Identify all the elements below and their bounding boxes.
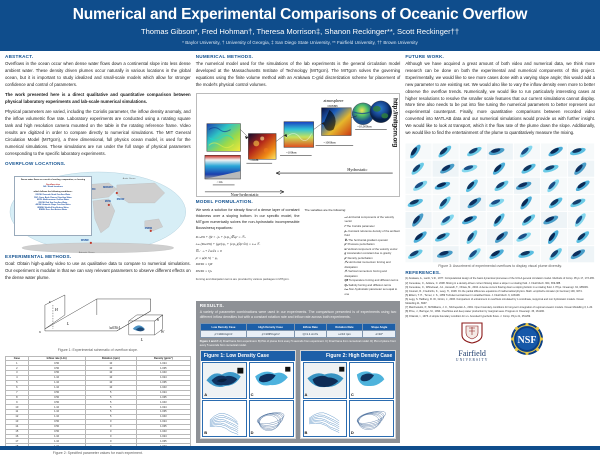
nsf-seal-icon: NSF — [510, 322, 544, 356]
results-p1: A variety of parameter combinations were… — [200, 310, 397, 321]
svg-text:L: L — [66, 321, 70, 326]
thumbnail-grid-svg — [405, 143, 595, 263]
results-caption-text: A) Final frame from experiment. B) Plot … — [200, 340, 396, 347]
fairfield-name: Fairfield — [456, 350, 489, 358]
svg-text:Antarctic Ocean: Antarctic Ocean — [78, 251, 95, 254]
svg-text:RSBW: RSBW — [145, 227, 153, 230]
variable-item: ℱₕ Horizontal momentum forcing and dissi… — [345, 260, 401, 269]
reference-item: [1] Arakawa, A., Lamb, V.R., 1977. Compu… — [405, 277, 595, 281]
model-formulation-body: We seek a solution for steady flow of a … — [196, 208, 401, 299]
variable-definition: Vertical component of the velocity vecto… — [347, 247, 397, 251]
equation-4: ρ' = ρ(θ, S) − ρ₀ — [196, 255, 300, 262]
experimental-methods-p1: Goal: Obtain high-quality video to use a… — [5, 261, 191, 282]
plume-model-c — [250, 363, 293, 397]
map-legend-blue: Sill / Strait locations — [17, 186, 89, 189]
results-col-inflow-rate: Inflow Rate — [294, 324, 326, 331]
results-col-rotation-rate: Rotation Rate — [326, 324, 363, 331]
reference-list: [1] Arakawa, A., Lamb, V.R., 1977. Compu… — [405, 277, 595, 318]
results-table-header-row: Low Density Case High Density Case Inflo… — [200, 324, 396, 331]
variable-definition: Density perturbation — [348, 256, 373, 260]
front-contours-b2 — [304, 401, 347, 435]
fairfield-crest-icon — [459, 322, 485, 344]
variables-block: The variables are the following: ᵥₕ Hori… — [305, 208, 401, 299]
panel-label: D — [351, 430, 354, 435]
results-col-low-density: Low Density Case — [200, 324, 247, 331]
figure-low-density-title: Figure 1: Low Density Case — [201, 351, 295, 361]
author-list: Thomas Gibson*, Fred Hohman†, Theresa Mo… — [10, 28, 590, 36]
equation-5: Dθ/Dt = Qθ — [196, 261, 300, 268]
results-table: Low Density Case High Density Case Inflo… — [200, 323, 397, 338]
figure-low-density-panels: A C — [201, 361, 295, 438]
variable-item: εₙₕ Non-hydrostatic parameter set equal … — [345, 287, 401, 296]
figure-low-density: Figure 1: Low Density Case — [200, 350, 296, 439]
plume-model-c2 — [350, 363, 393, 397]
equation-note: Forcing and dissipation terms are provid… — [196, 277, 300, 281]
panel-label: C — [251, 392, 254, 397]
variable-definition: Temperature forcing and diffusion terms — [349, 278, 398, 282]
svg-text:Arctic Ocean: Arctic Ocean — [122, 177, 136, 180]
model-formulation-p1: We seek a solution for steady flow of a … — [196, 208, 300, 232]
panel-experiment-front-contours: B — [202, 400, 247, 436]
panel-label: A — [204, 392, 207, 397]
results-cell-high-density: ρ'=1035 kg/m³ — [247, 331, 295, 338]
panel-label: A — [305, 392, 308, 397]
parameter-table-body: 10.50101.02420.50101.03530.50101.04341.1… — [6, 361, 191, 449]
mitgcm-scale-svg: ~10km ~100km ~1000km ~10,000km ~1m atmos… — [197, 94, 400, 197]
panel-experiment-front-contours: B — [303, 400, 348, 436]
fairfield-logo: Fairfield UNIVERSITY — [456, 322, 489, 362]
variable-definition: Constant reference density of the ambien… — [345, 229, 401, 238]
figure-high-density-panels: A C — [301, 361, 395, 438]
svg-text:z: z — [48, 299, 51, 304]
results-heading: Results. — [200, 304, 397, 309]
figure2-caption: Figure 2: Specified parameter values for… — [5, 451, 191, 455]
mitgcm-url[interactable]: http://mitgcm.org — [391, 98, 398, 147]
results-cell-rotation-rate: ω=10 rpm — [326, 331, 363, 338]
future-work-heading: Future Work. — [405, 55, 595, 60]
figure3-caption: Figure 3: Assortment of experimental ove… — [405, 264, 595, 268]
svg-text:~100km: ~100km — [286, 150, 297, 154]
variable-definition: Horizontal components of the velocity ve… — [345, 215, 395, 224]
front-contours-b — [203, 401, 246, 435]
nsf-logo: NSF — [510, 322, 544, 361]
map-legend-item: RSBW: Ross Sea Bottom Water — [17, 209, 89, 212]
svg-text:RSOW: RSOW — [117, 198, 125, 201]
column-left: Abstract. Overflows in the ocean occur w… — [5, 55, 191, 443]
svg-text:L: L — [140, 337, 144, 342]
figure-high-density-title: Figure 2: High Density Case — [301, 351, 395, 361]
results-caption-label: Figure 1 and 2: — [200, 340, 219, 343]
variable-definition: The horizontal gradient operator — [348, 238, 388, 242]
variable-item: ᵥₕ Horizontal components of the velocity… — [345, 215, 401, 224]
figure-high-density: Figure 2: High Density Case A — [300, 350, 396, 439]
svg-text:x: x — [38, 329, 41, 334]
variable-item: ℱᵣ Vertical momentum forcing and dissipa… — [345, 269, 401, 278]
equation-3: ∇ₕ · ᵥₕ + ∂w/∂z = 0 — [196, 248, 300, 255]
numerical-methods-heading: Numerical Methods. — [196, 55, 401, 60]
svg-text:W: W — [161, 329, 165, 334]
results-col-high-density: High Density Case — [247, 324, 295, 331]
equations-block: We seek a solution for steady flow of a … — [196, 208, 300, 299]
numerical-methods-p1: The numerical model used for the simulat… — [196, 61, 401, 89]
mitgcm-scale-figure: ~10km ~100km ~1000km ~10,000km ~1m atmos… — [196, 93, 401, 197]
overflow-thumbnail-grid — [405, 143, 595, 263]
abstract-p1: Overflows in the ocean occur when dense … — [5, 61, 191, 89]
svg-text:~1m: ~1m — [216, 180, 222, 184]
svg-text:MOW: MOW — [105, 200, 112, 203]
model-formulation-heading: Model Formulation. — [196, 200, 401, 205]
results-cell-inflow-rate: Q=1.1 cm³/s — [294, 331, 326, 338]
svg-text:WSBW: WSBW — [81, 239, 90, 242]
experimental-methods-heading: Experimental Methods. — [5, 255, 191, 260]
abstract-p3: Physical parameters are varied, includin… — [5, 109, 191, 158]
results-section: Results. A variety of parameter combinat… — [196, 301, 401, 443]
equation-6: DS/Dt = Qₛ — [196, 268, 300, 275]
result-figures: Figure 1: Low Density Case — [200, 350, 397, 439]
results-cell-slope-angle: α=10° — [363, 331, 396, 338]
svg-text:NORWAY: NORWAY — [103, 186, 114, 189]
svg-text:~1000km: ~1000km — [323, 140, 336, 144]
variables-heading: The variables are the following: — [305, 208, 401, 212]
svg-text:~10km: ~10km — [249, 158, 258, 162]
variable-item: ρ₀ Constant reference density of the amb… — [345, 229, 401, 238]
reference-item: [9] Orlanski, I., 1976. A simple boundar… — [405, 315, 595, 319]
panel-label: C — [351, 392, 354, 397]
nsf-label: NSF — [518, 335, 537, 346]
panel-label: D — [251, 430, 254, 435]
equation-1: Dᵥₕ/Dt + (fê × ᵥ)ₕ + (1/ρ₀)∇ₕp' = ℱₕ — [196, 234, 300, 241]
reference-item: [6] Legg, S. Hallberg, R. W., Girton, J.… — [405, 298, 595, 305]
map-legend-title: Dense water flows as a result of cooling… — [17, 179, 89, 182]
variable-definition: Pressure perturbation — [348, 242, 375, 246]
affiliation-list: * Baylor University, † University of Geo… — [10, 40, 590, 45]
results-table-row: ρ'=1024 kg/m³ ρ'=1035 kg/m³ Q=1.1 cm³/s … — [200, 331, 396, 338]
column-right: Future Work. Although we have acquired a… — [405, 55, 595, 443]
svg-text:Hydrostatic: Hydrostatic — [347, 167, 367, 172]
panel-experiment-final-frame: A — [202, 362, 247, 398]
front-contours-d2 — [350, 401, 393, 435]
experiment-schematic: H L z x \u03b1 h W L — [5, 285, 191, 347]
footer-bar — [0, 446, 600, 450]
svg-text:\u03b1: \u03b1 — [109, 325, 121, 330]
reference-item: [8] Price, J., Baringer, M., 1994. Overf… — [405, 310, 595, 314]
variable-definition: Non-hydrostatic parameter set equal to o… — [345, 287, 398, 296]
column-middle: Numerical Methods. The numerical model u… — [196, 55, 401, 443]
equation-2: εₙₕ (Dw/Dt) + (gρ')/ρ₀ + (1/ρ₀)(∂p'/∂z) … — [196, 241, 300, 248]
variable-definition: Horizontal momentum forcing and dissipat… — [345, 260, 391, 269]
panel-experiment-final-frame: A — [303, 362, 348, 398]
page-title: Numerical and Experimental Comparisons o… — [10, 7, 590, 23]
future-work-p1: Although we have acquired a great amount… — [405, 61, 595, 137]
front-contours-d — [250, 401, 293, 435]
map-legend: Dense water flows as a result of cooling… — [14, 176, 92, 236]
variable-definition: Salinity forcing and diffusion terms — [349, 283, 392, 287]
reference-item: [4] Courant, R., Friedrichs, K., Lewy, H… — [405, 290, 595, 294]
reference-item: [3] Cenedese, C., Whitehead, J.A., Ascar… — [405, 286, 595, 290]
overflow-locations-heading: Overflow Locations. — [5, 162, 191, 167]
reference-item: [2] Cenedese, C., Adduce, C. 2008. Mixin… — [405, 282, 595, 286]
svg-text:H: H — [54, 307, 59, 312]
variable-definition: The Coriolis parameter — [346, 224, 374, 228]
parameter-table: Case Inflow rate (L/m) Rotation (rpm) De… — [5, 356, 191, 450]
svg-text:Non-hydrostatic: Non-hydrostatic — [230, 192, 258, 197]
plume-photo-a2 — [304, 363, 347, 397]
variable-definition: Acceleration constant due to gravity — [347, 251, 391, 255]
fairfield-subtitle: UNIVERSITY — [456, 358, 489, 362]
schematic-svg: H L z x \u03b1 h W L — [5, 285, 191, 347]
panel-model-front-contours: D — [349, 400, 394, 436]
svg-text:h: h — [157, 317, 159, 322]
poster: Numerical and Experimental Comparisons o… — [0, 0, 600, 450]
figure1-caption: Figure 1: Experimental schematic of over… — [5, 348, 191, 352]
references-heading: References. — [405, 271, 595, 276]
poster-header: Numerical and Experimental Comparisons o… — [0, 0, 600, 51]
plume-photo-a — [203, 363, 246, 397]
panel-model-front-contours: D — [249, 400, 294, 436]
panel-model-final-frame: C — [349, 362, 394, 398]
variable-definition: Vertical momentum forcing and dissipatio… — [345, 269, 387, 278]
results-cell-low-density: ρ'=1024 kg/m³ — [200, 331, 247, 338]
abstract-p2: The work presented here is a direct qual… — [5, 92, 191, 106]
abstract-heading: Abstract. — [5, 55, 191, 60]
panel-model-final-frame: C — [249, 362, 294, 398]
variable-list: ᵥₕ Horizontal components of the velocity… — [305, 215, 401, 296]
panel-label: B — [305, 430, 308, 435]
svg-text:ocean: ocean — [327, 103, 338, 108]
poster-body: Abstract. Overflows in the ocean occur w… — [0, 51, 600, 446]
results-col-slope-angle: Slope Angle — [363, 324, 396, 331]
sponsor-logos: Fairfield UNIVERSITY — [405, 322, 595, 362]
world-map-figure: GREENLAND DSOW FBC NORWAY MOW RSOW WSBW … — [5, 169, 191, 255]
results-figure-caption: Figure 1 and 2: A) Final frame from expe… — [200, 340, 397, 348]
panel-label: B — [204, 430, 207, 435]
